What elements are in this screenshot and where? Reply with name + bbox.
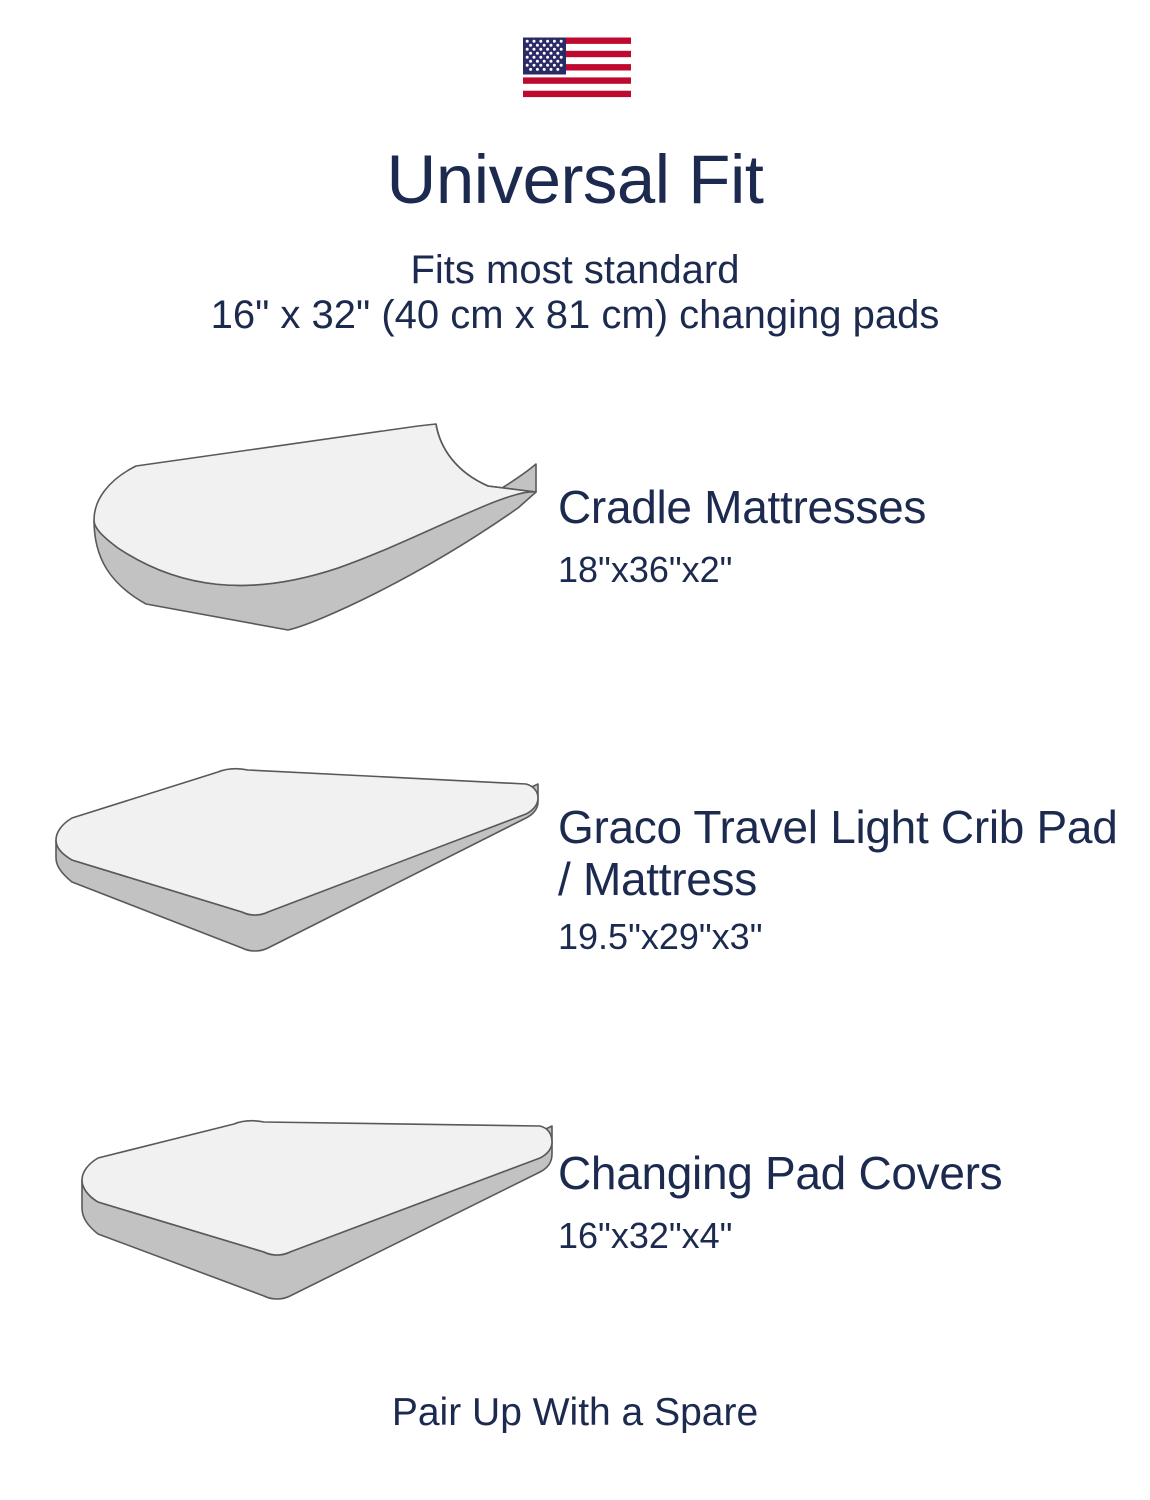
product-info: Graco Travel Light Crib Pad / Mattress 1… [558, 802, 1118, 957]
infographic-page: Universal Fit Fits most standard 16" x 3… [0, 0, 1150, 1500]
product-row: Cradle Mattresses 18"x36"x2" [0, 396, 1150, 646]
product-name: Graco Travel Light Crib Pad / Mattress [558, 802, 1118, 905]
product-row: Graco Travel Light Crib Pad / Mattress 1… [0, 762, 1150, 977]
page-title: Universal Fit [0, 145, 1150, 214]
product-dimensions: 19.5"x29"x3" [558, 917, 1118, 957]
product-name: Changing Pad Covers [558, 1148, 1118, 1200]
product-name: Cradle Mattresses [558, 482, 1118, 534]
usa-flag-icon [523, 36, 631, 103]
subtitle-line-2: 16" x 32" (40 cm x 81 cm) changing pads [0, 293, 1150, 338]
page-subtitle: Fits most standard 16" x 32" (40 cm x 81… [0, 248, 1150, 338]
footer-tagline: Pair Up With a Spare [0, 1392, 1150, 1435]
subtitle-line-1: Fits most standard [0, 248, 1150, 293]
contoured-changing-pad-icon [88, 408, 548, 638]
product-dimensions: 18"x36"x2" [558, 550, 1118, 590]
product-dimensions: 16"x32"x4" [558, 1216, 1118, 1256]
product-info: Changing Pad Covers 16"x32"x4" [558, 1148, 1118, 1255]
product-row: Changing Pad Covers 16"x32"x4" [0, 1118, 1150, 1318]
product-info: Cradle Mattresses 18"x36"x2" [558, 482, 1118, 589]
thick-mattress-icon [78, 1118, 558, 1313]
flat-mattress-icon [52, 762, 542, 967]
